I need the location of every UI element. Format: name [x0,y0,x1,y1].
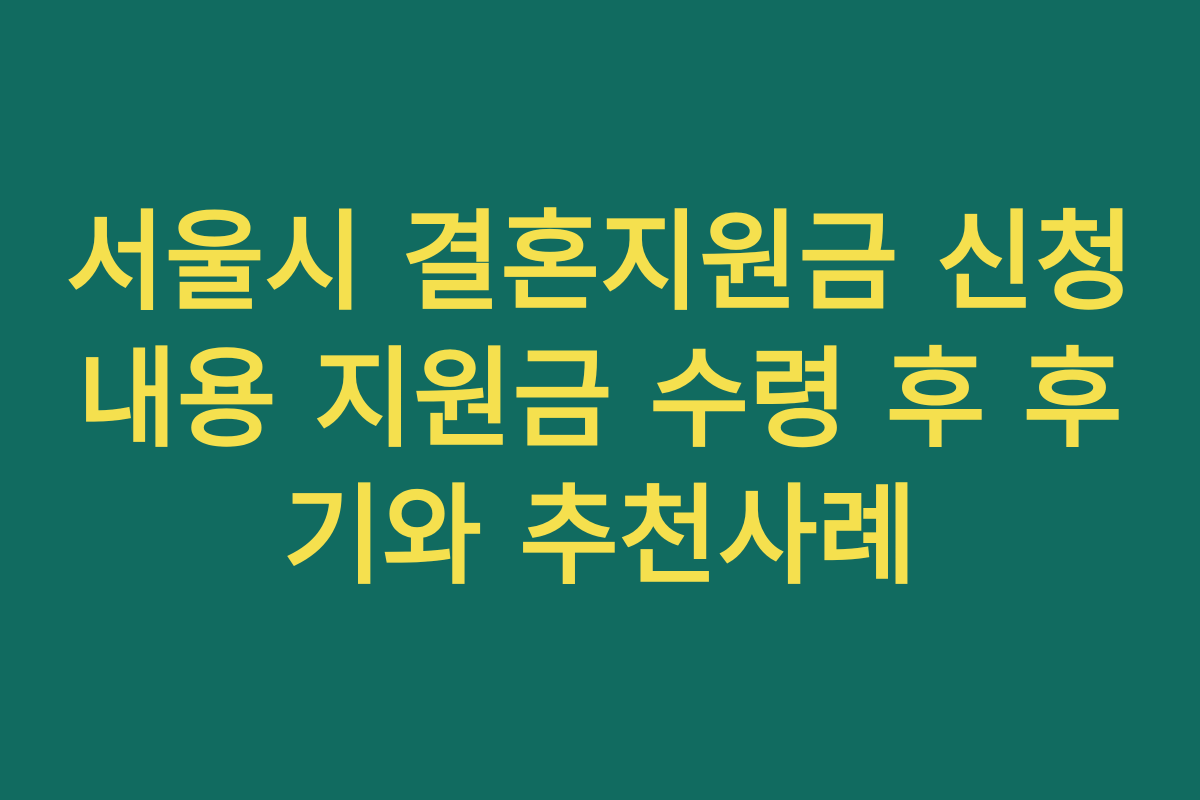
headline-line-3: 기와 추천사례 [40,469,1160,606]
headline-line-1: 서울시 결혼지원금 신청 [40,195,1160,332]
headline-line-2: 내용 지원금 수령 후 후 [40,332,1160,469]
headline: 서울시 결혼지원금 신청 내용 지원금 수령 후 후 기와 추천사례 [0,195,1200,606]
thumbnail-card: 서울시 결혼지원금 신청 내용 지원금 수령 후 후 기와 추천사례 [0,0,1200,800]
